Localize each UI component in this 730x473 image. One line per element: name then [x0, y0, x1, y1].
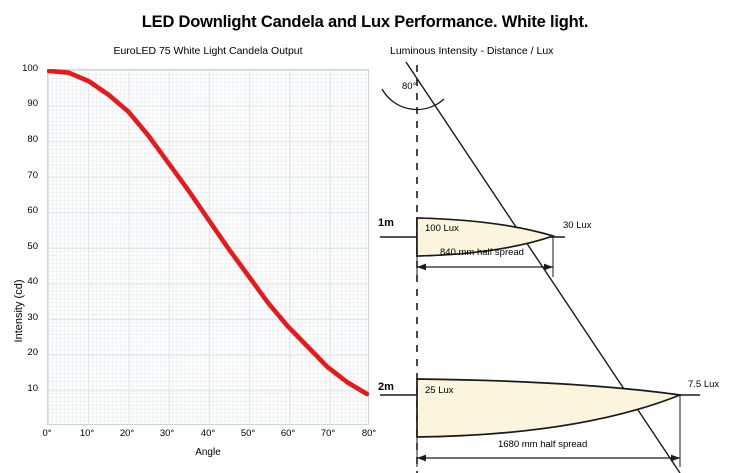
half-spread-label-1m: 840 mm half spread [440, 247, 524, 258]
x-tick-30: 30° [152, 429, 182, 439]
figure-root: LED Downlight Candela and Lux Performanc… [0, 0, 730, 473]
x-tick-50: 50° [233, 429, 263, 439]
y-axis-label: Intensity (cd) [13, 256, 25, 366]
beam-angle-arc [382, 89, 444, 110]
distance-label-2m: 2m [378, 382, 394, 393]
half-spread-label-2m: 1680 mm half spread [498, 439, 587, 450]
page-title: LED Downlight Candela and Lux Performanc… [0, 13, 730, 32]
x-tick-0: 0° [32, 429, 62, 439]
dim-arrowhead-right-2m [671, 455, 680, 462]
y-tick-80: 80 [0, 135, 38, 145]
centre-lux-label-1m: 100 Lux [425, 223, 459, 234]
chart-title: EuroLED 75 White Light Candela Output [47, 45, 369, 57]
x-tick-40: 40° [193, 429, 223, 439]
x-tick-70: 70° [313, 429, 343, 439]
candela-chart-panel: EuroLED 75 White Light Candela Output 10… [0, 55, 380, 473]
y-tick-90: 90 [0, 99, 38, 109]
edge-lux-label-1m: 30 Lux [563, 220, 592, 231]
lux-diagram-svg [380, 55, 730, 473]
y-tick-10: 10 [0, 384, 38, 394]
candela-curve [47, 69, 369, 425]
x-tick-20: 20° [112, 429, 142, 439]
x-axis-label: Angle [47, 447, 369, 458]
y-tick-100: 100 [0, 64, 38, 74]
dim-arrowhead-left-1m [417, 264, 426, 271]
edge-lux-label-2m: 7.5 Lux [688, 379, 719, 390]
x-tick-10: 10° [72, 429, 102, 439]
candela-curve-path [49, 71, 367, 394]
y-tick-60: 60 [0, 206, 38, 216]
dim-arrowhead-right-1m [544, 264, 553, 271]
y-tick-50: 50 [0, 242, 38, 252]
x-tick-60: 60° [273, 429, 303, 439]
y-tick-70: 70 [0, 171, 38, 181]
distance-label-1m: 1m [378, 218, 394, 229]
centre-lux-label-2m: 25 Lux [425, 385, 454, 396]
beam-lens-2m [417, 379, 680, 437]
beam-angle-label: 80° [402, 81, 416, 92]
dim-arrowhead-left-2m [417, 455, 426, 462]
lux-distance-diagram-panel: Luminous Intensity - Distance / Lux [380, 55, 730, 473]
